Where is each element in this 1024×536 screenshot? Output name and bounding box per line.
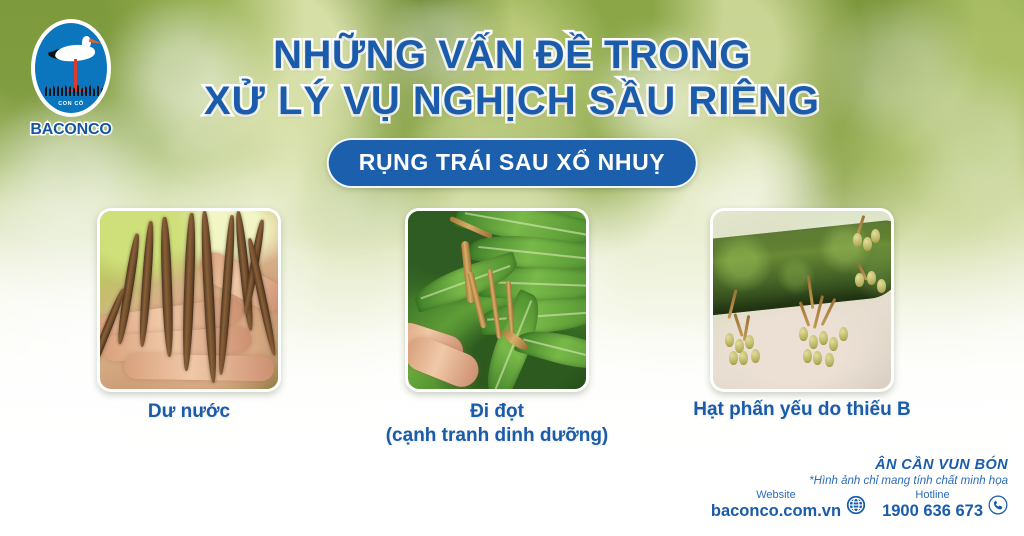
photo-card-1 <box>97 208 281 392</box>
page-title-line-2: XỬ LÝ VỤ NGHỊCH SẦU RIÊNG <box>0 78 1024 124</box>
slogan: ÂN CẦN VUN BÓN <box>711 457 1008 473</box>
footer: ÂN CẦN VUN BÓN *Hình ảnh chỉ mang tính c… <box>711 457 1008 520</box>
website-texts: Website baconco.com.vn <box>711 490 841 520</box>
photo-3-image <box>713 211 891 389</box>
photo-3 <box>713 211 891 389</box>
photo-1-caption: Dư nước <box>59 400 319 424</box>
contact-row: Website baconco.com.vn Hotline <box>711 490 1008 520</box>
photo-1-caption-line-1: Dư nước <box>59 400 319 424</box>
photo-1-image <box>100 211 278 389</box>
page-title: NHỮNG VẤN ĐỀ TRONG XỬ LÝ VỤ NGHỊCH SẦU R… <box>0 32 1024 124</box>
globe-icon <box>846 495 866 515</box>
photo-card-3 <box>710 208 894 392</box>
hotline-block[interactable]: Hotline 1900 636 673 <box>882 490 1008 520</box>
hotline-texts: Hotline 1900 636 673 <box>882 490 983 520</box>
photo-3-caption-line-1: Hạt phấn yếu do thiếu B <box>652 398 952 422</box>
photo-2-caption-line-2: (cạnh tranh dinh dưỡng) <box>352 424 642 448</box>
photo-2-caption-line-1: Đi đọt <box>352 400 642 424</box>
promo-banner: CON CÒ BACONCO NHỮNG VẤN ĐỀ TRONG XỬ LÝ … <box>0 0 1024 536</box>
subtitle-badge-label: RỤNG TRÁI SAU XỔ NHUỴ <box>359 149 666 175</box>
photo-2-caption: Đi đọt (cạnh tranh dinh dưỡng) <box>352 400 642 448</box>
hotline-label: Hotline <box>882 490 983 502</box>
disclaimer: *Hình ảnh chỉ mang tính chất minh họa <box>711 475 1008 487</box>
photo-card-2 <box>405 208 589 392</box>
hotline-value[interactable]: 1900 636 673 <box>882 503 983 520</box>
branch <box>713 219 891 315</box>
page-title-line-1: NHỮNG VẤN ĐỀ TRONG <box>0 32 1024 78</box>
photo-2-image <box>408 211 586 389</box>
photo-2 <box>408 211 586 389</box>
photo-3-caption: Hạt phấn yếu do thiếu B <box>652 398 952 422</box>
website-label: Website <box>711 490 841 502</box>
phone-icon <box>988 495 1008 515</box>
subtitle-badge: RỤNG TRÁI SAU XỔ NHUỴ <box>327 138 698 188</box>
website-value[interactable]: baconco.com.vn <box>711 503 841 520</box>
website-block[interactable]: Website baconco.com.vn <box>711 490 866 520</box>
photo-1 <box>100 211 278 389</box>
